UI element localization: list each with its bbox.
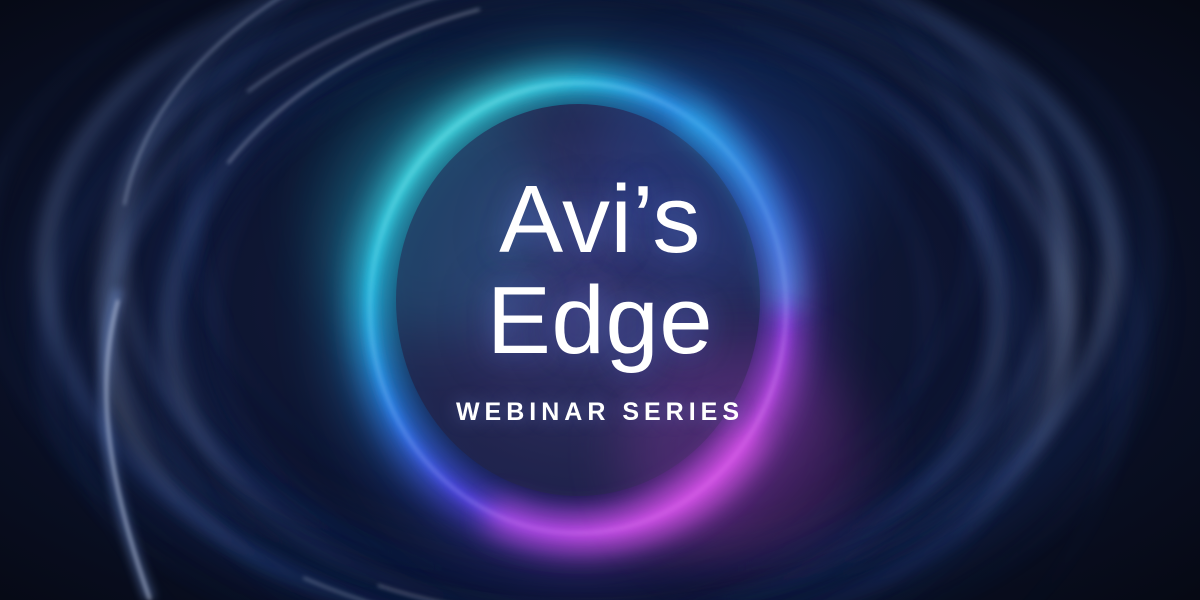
- webinar-series-banner: Avi’s Edge WEBINAR SERIES: [0, 0, 1200, 600]
- background-artwork: [0, 0, 1200, 600]
- ring-blue-haze: [590, 50, 870, 290]
- ring-magenta-haze: [622, 342, 862, 562]
- ring-teal-haze: [310, 80, 550, 340]
